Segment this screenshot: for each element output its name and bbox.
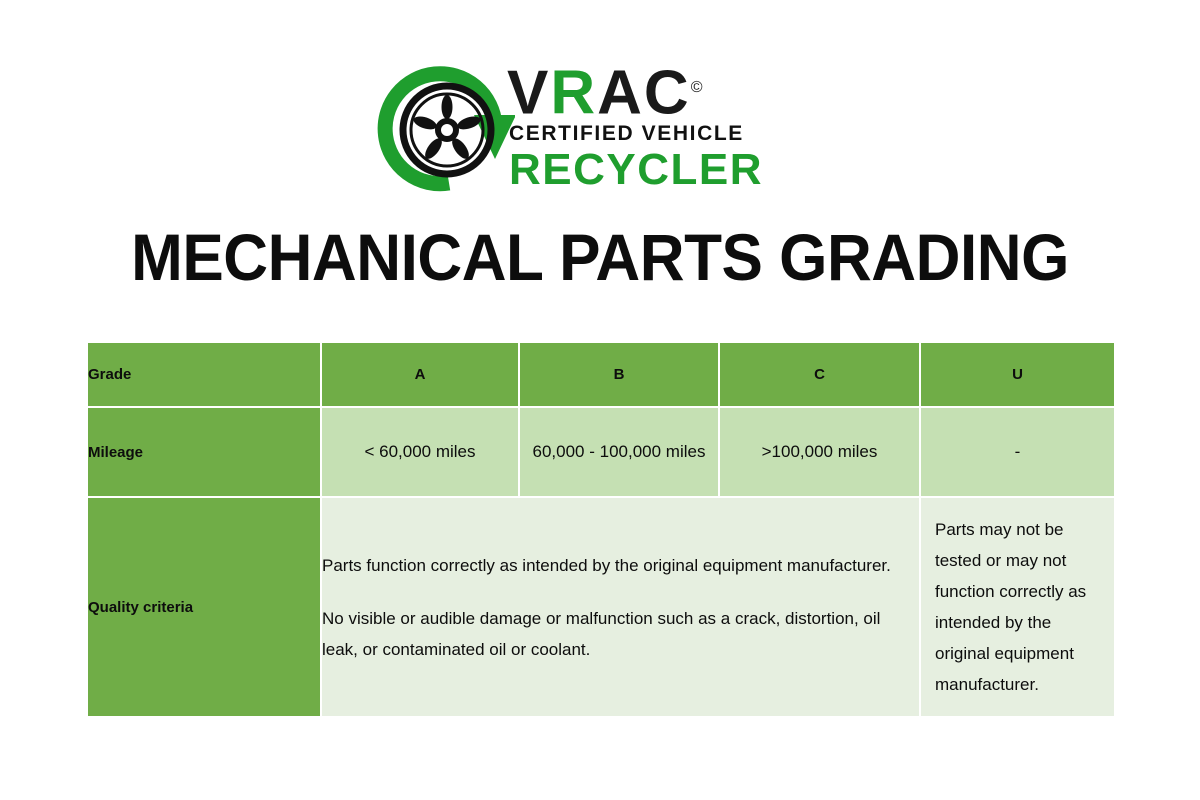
mileage-grade-u: - [921,408,1114,496]
recycling-wheel-logo-icon [375,63,515,193]
header-grade-c: C [720,343,919,406]
table-header-row: Grade A B C U [88,343,1114,406]
mileage-grade-b: 60,000 - 100,000 miles [520,408,718,496]
mechanical-parts-grading-table: Grade A B C U Mileage < 60,000 miles 60,… [86,341,1116,718]
table-row-quality-criteria: Quality criteria Parts function correctl… [88,498,1114,716]
logo-letter-r: R [550,59,597,128]
mileage-grade-c: >100,000 miles [720,408,919,496]
logo-recycler-text: RECYCLER [509,147,763,193]
vrac-logo: VRAC© CERTIFIED VEHICLE RECYCLER [375,55,845,205]
quality-criteria-abc: Parts function correctly as intended by … [322,498,919,716]
logo-letters-ac: AC [597,59,691,128]
logo-letter-v: V [507,59,550,128]
mileage-grade-a: < 60,000 miles [322,408,518,496]
header-grade-a: A [322,343,518,406]
quality-criteria-paragraph-1: Parts function correctly as intended by … [322,550,919,581]
table-row-mileage: Mileage < 60,000 miles 60,000 - 100,000 … [88,408,1114,496]
quality-criteria-u: Parts may not be tested or may not funct… [921,498,1114,716]
logo-tagline: CERTIFIED VEHICLE [509,123,744,145]
page-title: MECHANICAL PARTS GRADING [36,218,1164,296]
header-grade-b: B [520,343,718,406]
header-grade-label: Grade [88,343,320,406]
copyright-icon: © [691,79,703,96]
logo-vrac-text: VRAC© [507,57,703,125]
logo-wordmark: VRAC© CERTIFIED VEHICLE RECYCLER [507,55,847,205]
row-label-mileage: Mileage [88,408,320,496]
row-label-quality-criteria: Quality criteria [88,498,320,716]
quality-criteria-paragraph-2: No visible or audible damage or malfunct… [322,603,919,665]
header-grade-u: U [921,343,1114,406]
